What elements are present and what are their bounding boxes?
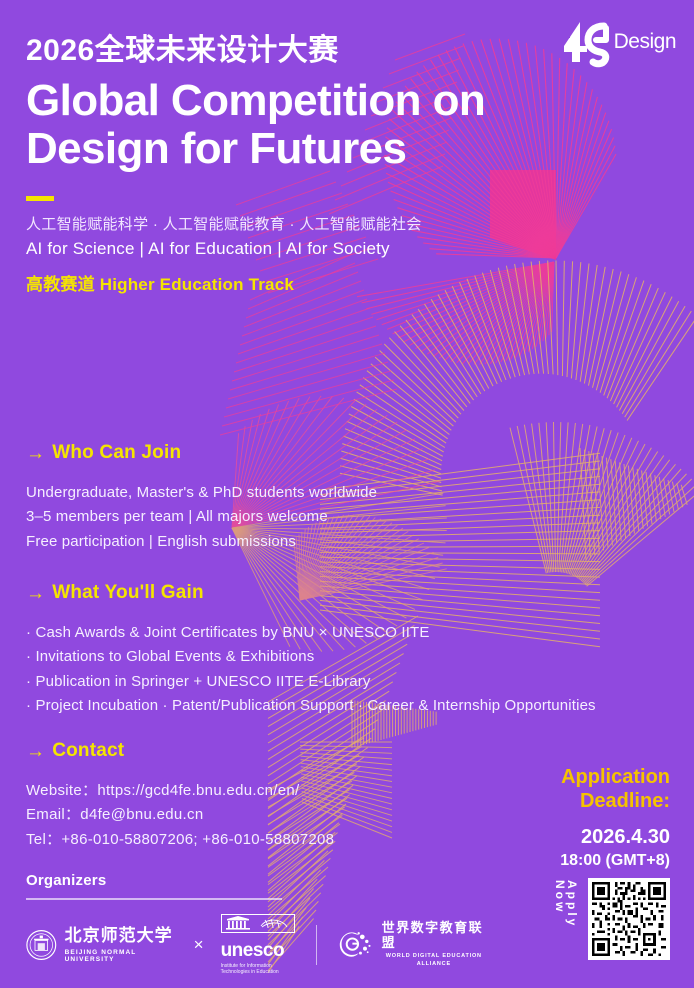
gain-line-1: · Cash Awards & Joint Certificates by BN… [26, 621, 596, 645]
who-line-2: 3–5 members per team | All majors welcom… [26, 505, 377, 529]
deadline-date: 2026.4.30 [440, 825, 670, 849]
wdea-globe-icon [338, 928, 374, 962]
deadline-label-line2: Deadline: [440, 790, 670, 814]
qr-code[interactable] [588, 878, 670, 960]
contact-website[interactable]: Website：https://gcd4fe.bnu.edu.cn/en/ [26, 779, 334, 803]
gain-line-4: · Project Incubation · Patent/Publicatio… [26, 694, 596, 718]
unesco-sub-line2: Technologies in Education [221, 969, 295, 976]
section-heading-text: Who Can Join [52, 442, 181, 464]
unesco-sub: Institute for Information Technologies i… [221, 963, 295, 977]
organizer-separator-x: × [190, 935, 208, 955]
headline-block: 2026全球未来设计大赛 Global Competition on Desig… [26, 34, 586, 172]
unesco-sub-line1: Institute for Information [221, 963, 295, 970]
section-who-can-join: → Who Can Join Undergraduate, Master's &… [26, 442, 377, 554]
organizer-bnu: 北京师范大学 BEIJING NORMAL UNIVERSITY [26, 927, 177, 963]
section-contact: → Contact Website：https://gcd4fe.bnu.edu… [26, 740, 334, 852]
poster-canvas: Design 2026全球未来设计大赛 Global Competition o… [0, 0, 694, 988]
deadline-time: 18:00 (GMT+8) [440, 851, 670, 870]
title-english-line1: Global Competition on [26, 77, 586, 125]
bnu-name-english: BEIJING NORMAL UNIVERSITY [65, 949, 177, 963]
contact-email[interactable]: Email：d4fe@bnu.edu.cn [26, 803, 334, 827]
wdea-name-english-line2: ALLIANCE [382, 960, 486, 968]
qr-code-icon [592, 882, 666, 956]
track-label: 高教赛道 Higher Education Track [26, 270, 546, 295]
title-english-line2: Design for Futures [26, 125, 586, 173]
section-heading-gain: → What You'll Gain [26, 582, 596, 604]
apply-now-label: Apply Now [554, 880, 578, 958]
organizer-wdea: 世界数字教育联盟 WORLD DIGITAL EDUCATION ALLIANC… [338, 921, 486, 968]
subtitle-block: 人工智能赋能科学 · 人工智能赋能教育 · 人工智能赋能社会 AI for Sc… [26, 196, 546, 295]
arrow-right-icon: → [26, 444, 45, 463]
deadline-label: Application Deadline: [440, 766, 670, 813]
title-chinese: 2026全球未来设计大赛 [26, 34, 586, 67]
gain-line-3: · Publication in Springer + UNESCO IITE … [26, 670, 596, 694]
gain-line-2: · Invitations to Global Events & Exhibit… [26, 645, 596, 669]
organizer-vertical-divider [316, 925, 317, 965]
bnu-name-chinese: 北京师范大学 [65, 927, 177, 946]
arrow-right-icon: → [26, 742, 45, 761]
application-deadline-block: Application Deadline: 2026.4.30 18:00 (G… [440, 766, 670, 870]
deadline-label-line1: Application [440, 766, 670, 790]
organizers-block: Organizers 北京师范大学 BEIJING NORMAL UNIVERS… [26, 872, 486, 976]
wdea-name-chinese: 世界数字教育联盟 [382, 921, 486, 950]
contact-tel: Tel：+86-010-58807206; +86-010-58807208 [26, 828, 334, 852]
unesco-temple-icon [221, 914, 295, 933]
section-what-youll-gain: → What You'll Gain · Cash Awards & Joint… [26, 582, 596, 718]
organizers-divider [26, 898, 282, 900]
arrow-right-icon: → [26, 584, 45, 603]
brand-word: Design [614, 30, 676, 54]
section-heading-text: Contact [52, 740, 124, 762]
who-line-1: Undergraduate, Master's & PhD students w… [26, 481, 377, 505]
title-english: Global Competition on Design for Futures [26, 77, 586, 172]
subtitle-chinese: 人工智能赋能科学 · 人工智能赋能教育 · 人工智能赋能社会 [26, 214, 546, 236]
wdea-name-english: WORLD DIGITAL EDUCATION ALLIANCE [382, 952, 486, 969]
apply-now-block[interactable]: Apply Now [554, 878, 670, 960]
organizers-label: Organizers [26, 872, 486, 889]
unesco-wordmark: unesco [221, 941, 295, 960]
subtitle-english: AI for Science | AI for Education | AI f… [26, 237, 546, 262]
section-heading-who: → Who Can Join [26, 442, 377, 464]
section-heading-text: What You'll Gain [52, 582, 204, 604]
who-line-3: Free participation | English submissions [26, 530, 377, 554]
organizer-unesco-iite: unesco Institute for Information Technol… [221, 914, 295, 977]
organizers-logo-row: 北京师范大学 BEIJING NORMAL UNIVERSITY × [26, 914, 486, 977]
yellow-accent-rule [26, 196, 54, 201]
section-heading-contact: → Contact [26, 740, 334, 762]
wdea-name-english-line1: WORLD DIGITAL EDUCATION [382, 952, 486, 960]
bnu-seal-icon [26, 928, 57, 962]
